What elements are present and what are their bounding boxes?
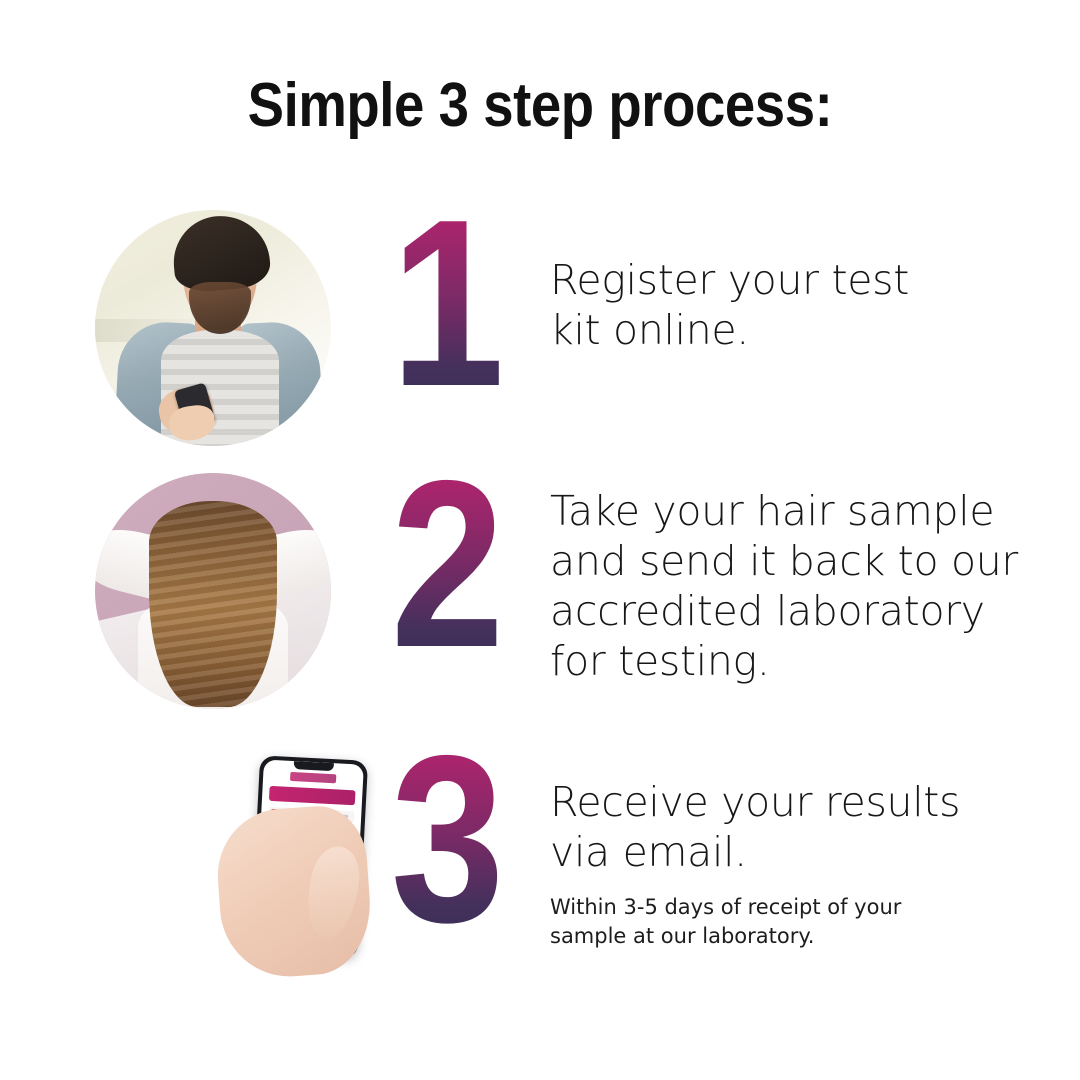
step-3-note: Within 3-5 days of receipt of your sampl… <box>550 893 980 951</box>
step-3-headline: Receive your results via email. <box>550 777 1030 877</box>
step-number-2: 2 <box>381 446 510 684</box>
step-1-text: Register your test kit online. <box>550 255 1030 355</box>
step-2-headline: Take your hair sample and send it back t… <box>550 486 1030 686</box>
step-2-media <box>95 473 331 709</box>
step-3-text: Receive your results via email. <box>550 777 1030 877</box>
step-1-media <box>95 210 331 446</box>
step-2-text: Take your hair sample and send it back t… <box>550 486 1030 686</box>
man-using-phone-photo <box>95 210 331 446</box>
woman-hair-photo <box>95 473 331 709</box>
hand-holding-phone-results-photo <box>213 750 403 982</box>
brand-logo <box>290 772 336 783</box>
infographic-page: Simple 3 step process: 1 Register your t… <box>0 0 1080 1080</box>
long-wavy-hair <box>149 501 277 707</box>
step-3-media <box>95 750 331 986</box>
page-title: Simple 3 step process: <box>65 70 1015 141</box>
step-row-1: 1 Register your test kit online. <box>0 205 1080 455</box>
step-1-headline: Register your test kit online. <box>550 255 1030 355</box>
step-number-3: 3 <box>381 721 510 959</box>
phone-notch <box>294 761 334 771</box>
step-row-3: 3 Receive your results via email. Within… <box>0 745 1080 980</box>
results-banner <box>269 786 356 805</box>
step-number-1: 1 <box>381 185 510 423</box>
step-row-2: 2 Take your hair sample and send it back… <box>0 468 1080 718</box>
